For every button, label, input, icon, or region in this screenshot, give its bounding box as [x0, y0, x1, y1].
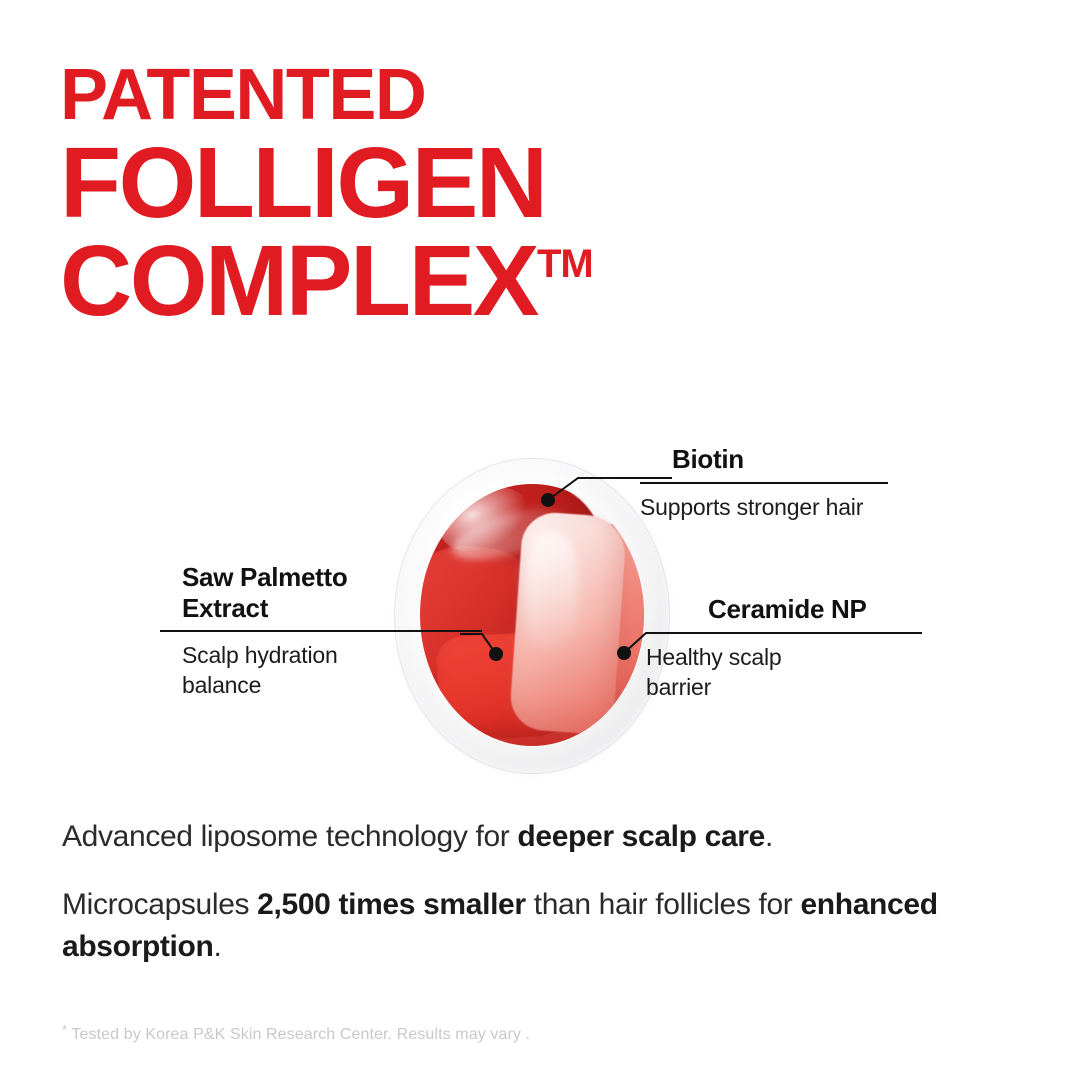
body-line-1-bold: deeper scalp care: [517, 820, 765, 853]
liposome-core: [420, 484, 644, 746]
callout-biotin: Biotin Supports stronger hair: [672, 444, 922, 523]
callout-ceramide-np-rule: [646, 632, 922, 634]
body-line-1-pre: Advanced liposome technology for: [62, 820, 517, 853]
callout-biotin-desc: Supports stronger hair: [640, 493, 922, 523]
headline-complex-word: COMPLEX: [60, 225, 537, 337]
body-line-2-pre: Microcapsules: [62, 888, 257, 921]
footnote: * Tested by Korea P&K Skin Research Cent…: [62, 1022, 530, 1044]
body-line-2: Microcapsules 2,500 times smaller than h…: [62, 884, 1022, 968]
body-line-2-post: .: [214, 930, 222, 963]
callout-saw-palmetto: Saw Palmetto Extract Scalp hydration bal…: [182, 562, 432, 701]
callout-saw-palmetto-desc: Scalp hydration balance: [182, 641, 432, 701]
headline-line-folligen: FOLLIGEN: [60, 136, 1020, 230]
callout-ceramide-np: Ceramide NP Healthy scalp barrier: [708, 594, 922, 702]
body-line-2-mid: than hair follicles for: [526, 888, 801, 921]
headline-line-patented: PATENTED: [60, 62, 1020, 130]
trademark-symbol: TM: [537, 242, 593, 286]
callout-biotin-title: Biotin: [672, 444, 922, 475]
headline-block: PATENTED FOLLIGEN COMPLEXTM: [60, 62, 1020, 328]
body-line-2-bold-1: 2,500 times smaller: [257, 888, 526, 921]
footnote-text: Tested by Korea P&K Skin Research Center…: [67, 1026, 530, 1043]
callout-ceramide-np-title: Ceramide NP: [708, 594, 922, 625]
infographic-canvas: PATENTED FOLLIGEN COMPLEXTM: [0, 0, 1080, 1080]
callout-saw-palmetto-title: Saw Palmetto Extract: [182, 562, 432, 623]
gloss-highlight-center: [524, 532, 578, 652]
callout-biotin-rule: [640, 482, 888, 484]
body-line-1: Advanced liposome technology for deeper …: [62, 816, 1022, 858]
body-copy-block: Advanced liposome technology for deeper …: [62, 816, 1022, 968]
callout-saw-palmetto-rule: [160, 630, 482, 632]
body-line-1-post: .: [765, 820, 773, 853]
callout-ceramide-np-desc: Healthy scalp barrier: [646, 643, 922, 703]
headline-line-complex: COMPLEXTM: [60, 234, 1020, 328]
